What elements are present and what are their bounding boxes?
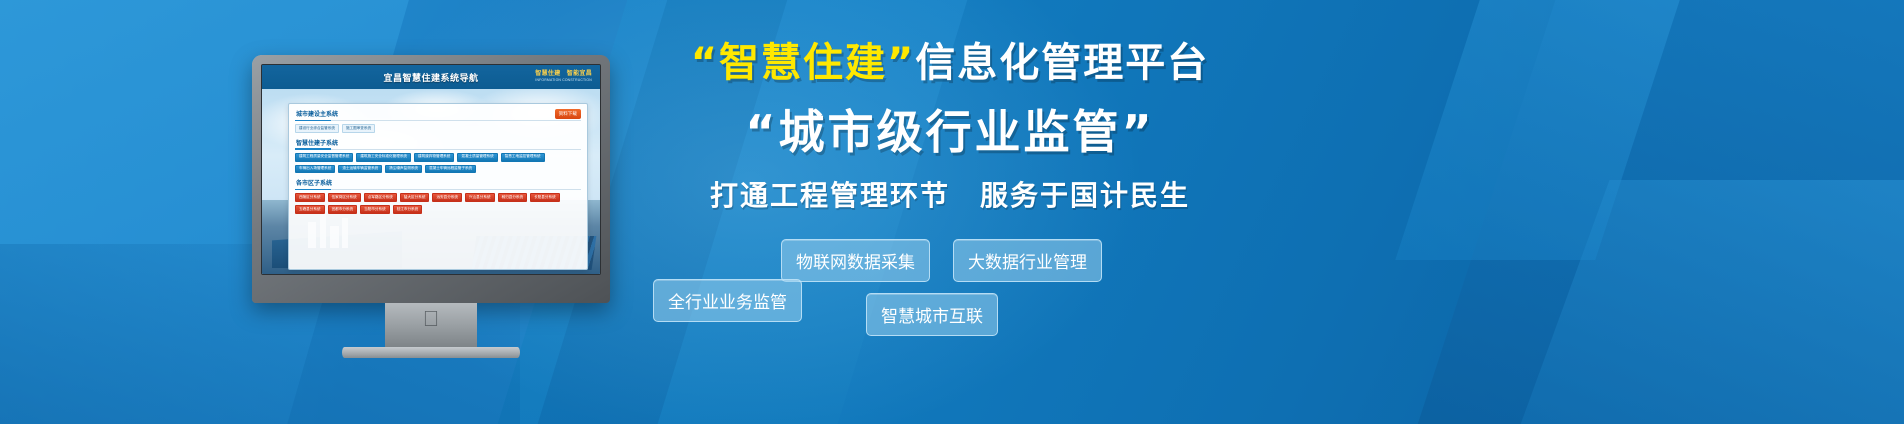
dashboard-module-chip[interactable]: 伍家岗区分系统 <box>328 193 361 202</box>
screen-title: 宜昌智慧住建系统导航 <box>383 71 478 84</box>
headline-line-3: 打通工程管理环节 服务于国计民生 <box>640 174 1260 214</box>
dashboard-module-chip[interactable]: 枝江市分系统 <box>393 205 423 214</box>
dashboard-module-chip[interactable]: 扬尘噪声监测系统 <box>385 165 422 174</box>
hero-banner: 宜昌智慧住建系统导航 智慧住建 智能宜昌 INFORMATION CONSTRU… <box>0 0 1904 424</box>
headline-rest: 信息化管理平台 <box>915 40 1209 86</box>
screen-logo: 智慧住建 智能宜昌 INFORMATION CONSTRUCTION <box>535 68 592 82</box>
dashboard-sections: 城市建设主系统建设行业综合监管系统施工图审查系统智慧住建子系统建筑工程质量安全监… <box>295 109 581 214</box>
monitor-bezel-inner: 宜昌智慧住建系统导航 智慧住建 智能宜昌 INFORMATION CONSTRU… <box>252 55 610 303</box>
background-facet-7 <box>1395 0 1692 260</box>
dashboard-module-chip[interactable]: 建筑施工安全标准化管理系统 <box>356 153 411 162</box>
dashboard-module-chip[interactable]: 渣土运输车辆监管系统 <box>338 165 382 174</box>
dashboard-section-title: 智慧住建子系统 <box>295 138 581 150</box>
dashboard-chip-row: 西陵区分系统伍家岗区分系统点军路区分系统猛大区分系统远安县分系统兴山县分系统秭归… <box>295 193 581 214</box>
dashboard-section-title: 各市区子系统 <box>295 178 581 190</box>
dashboard-module-chip[interactable]: 宜都市分系统 <box>328 205 358 214</box>
quote-open: “ <box>691 40 719 86</box>
dashboard-module-chip[interactable]: 五峰县分系统 <box>295 205 325 214</box>
screen-logo-primary: 智慧住建 智能宜昌 <box>535 68 592 77</box>
monitor-mockup: 宜昌智慧住建系统导航 智慧住建 智能宜昌 INFORMATION CONSTRU… <box>252 55 610 303</box>
dashboard-panel: 资料下载 城市建设主系统建设行业综合监管系统施工图审查系统智慧住建子系统建筑工程… <box>288 103 588 270</box>
feature-tag-bigdata[interactable]: 大数据行业管理 <box>953 239 1102 282</box>
apple-logo-icon:  <box>420 307 442 331</box>
quote-close: ” <box>887 40 915 86</box>
dashboard-module-chip[interactable]: 车辆出入场管理系统 <box>295 165 335 174</box>
feature-tag-supervision[interactable]: 全行业业务监管 <box>653 279 802 322</box>
dashboard-module-chip[interactable]: 建设行业综合监管系统 <box>295 124 339 133</box>
dashboard-module-chip[interactable]: 兴山县分系统 <box>465 193 495 202</box>
dashboard-chip-row: 建设行业综合监管系统施工图审查系统 <box>295 124 581 133</box>
dashboard-module-chip[interactable]: 猛大区分系统 <box>400 193 430 202</box>
dashboard-module-chip[interactable]: 秭归县分系统 <box>498 193 528 202</box>
monitor-bezel: 宜昌智慧住建系统导航 智慧住建 智能宜昌 INFORMATION CONSTRU… <box>252 55 610 303</box>
dashboard-module-chip[interactable]: 建筑工程质量安全监督管理系统 <box>295 153 353 162</box>
monitor-screen: 宜昌智慧住建系统导航 智慧住建 智能宜昌 INFORMATION CONSTRU… <box>261 64 601 275</box>
dashboard-module-chip[interactable]: 混凝土车辆远程监管子系统 <box>425 165 476 174</box>
background-facet-6 <box>1478 180 1904 424</box>
screen-header: 宜昌智慧住建系统导航 智慧住建 智能宜昌 INFORMATION CONSTRU… <box>262 65 600 89</box>
headline-highlight: 智慧住建 <box>719 40 887 86</box>
headline-line-1: “智慧住建”信息化管理平台 <box>640 40 1260 86</box>
dashboard-module-chip[interactable]: 混凝土质量管理系统 <box>457 153 497 162</box>
headline-line-2: “城市级行业监管” <box>640 96 1260 162</box>
dashboard-module-chip[interactable]: 远安县分系统 <box>432 193 462 202</box>
background-facet-5 <box>1387 0 1904 424</box>
dashboard-module-chip[interactable]: 当阳市分系统 <box>360 205 390 214</box>
dashboard-module-chip[interactable]: 施工图审查系统 <box>342 124 375 133</box>
screen-body: 资料下载 城市建设主系统建设行业综合监管系统施工图审查系统智慧住建子系统建筑工程… <box>262 89 600 274</box>
dashboard-section-title: 城市建设主系统 <box>295 109 581 121</box>
dashboard-chip-row: 建筑工程质量安全监督管理系统建筑施工安全标准化管理系统建筑废弃物管理系统混凝土质… <box>295 153 581 174</box>
dashboard-module-chip[interactable]: 点军路区分系统 <box>364 193 397 202</box>
headline-block: “智慧住建”信息化管理平台 “城市级行业监管” 打通工程管理环节 服务于国计民生 <box>640 40 1260 214</box>
screen-logo-secondary: INFORMATION CONSTRUCTION <box>535 78 592 82</box>
feature-tag-iot[interactable]: 物联网数据采集 <box>781 239 930 282</box>
dashboard-module-chip[interactable]: 建筑废弃物管理系统 <box>414 153 454 162</box>
dashboard-module-chip[interactable]: 智慧工地监控管理系统 <box>501 153 545 162</box>
feature-tag-smartcity[interactable]: 智慧城市互联 <box>866 293 998 336</box>
monitor-base <box>342 347 520 358</box>
dashboard-module-chip[interactable]: 西陵区分系统 <box>295 193 325 202</box>
dashboard-module-chip[interactable]: 长阳县分系统 <box>530 193 560 202</box>
